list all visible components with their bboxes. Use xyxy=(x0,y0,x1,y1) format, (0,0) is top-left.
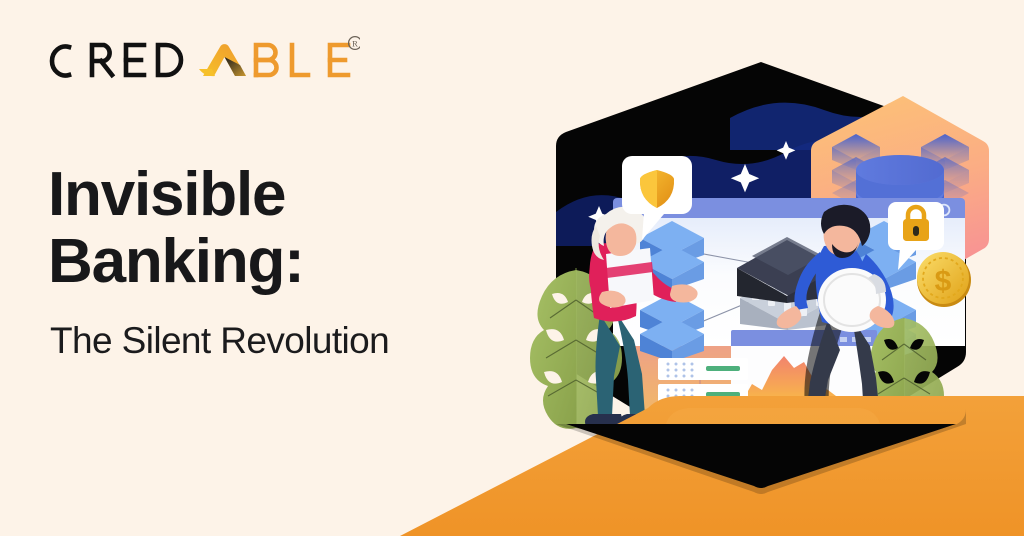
svg-text:$: $ xyxy=(935,265,952,298)
hero-banner: R Invisible Banking: The Silent Revoluti… xyxy=(0,0,1024,536)
hero-illustration: $ xyxy=(400,0,1024,536)
logo-a-chevron-icon xyxy=(199,44,246,76)
svg-text:R: R xyxy=(352,39,358,49)
credable-logo-svg: R xyxy=(40,34,360,86)
headline-line-1: Invisible xyxy=(48,160,285,229)
registered-trademark-icon: R xyxy=(349,37,360,50)
illustration-svg: $ xyxy=(400,0,1024,536)
rack-unit-1 xyxy=(658,358,748,380)
credable-logo[interactable]: R xyxy=(40,34,360,82)
